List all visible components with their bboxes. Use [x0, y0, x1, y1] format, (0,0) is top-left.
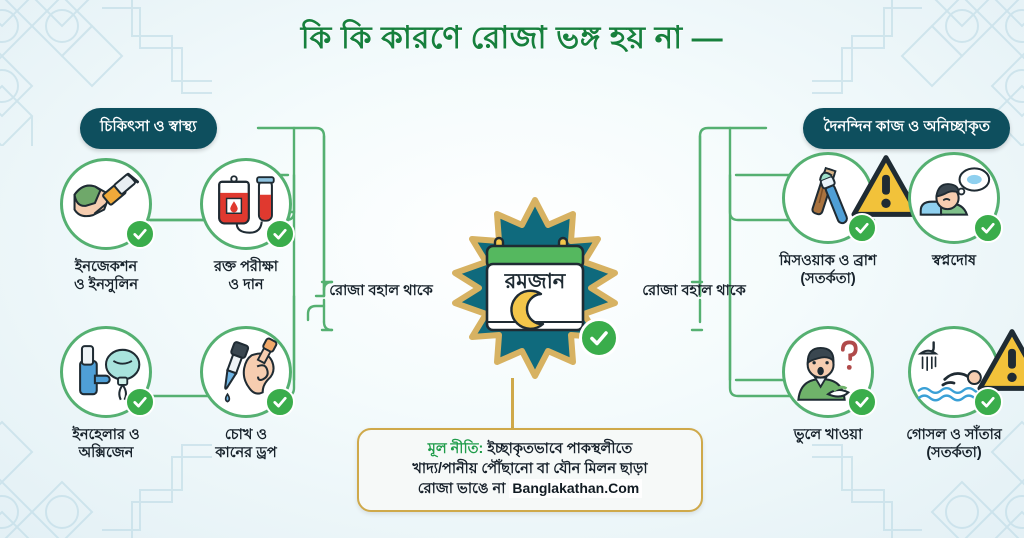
- infographic-canvas: কি কি কারণে রোজা ভঙ্গ হয় না —: [0, 0, 1024, 538]
- status-badge-check: [125, 219, 155, 249]
- caption-line-1: ভুলে খাওয়া: [758, 427, 898, 445]
- caption-line-1: ইনহেলার ও: [36, 427, 176, 445]
- icon-circle: [908, 152, 1000, 244]
- item-injection-insulin[interactable]: ইনজেকশন ও ইনসুলিন: [36, 158, 176, 294]
- note-text-1: ইচ্ছাকৃতভাবে পাকস্থলীতে: [483, 441, 632, 457]
- item-blood-test-donation[interactable]: রক্ত পরীক্ষা ও দান: [176, 158, 316, 294]
- principle-note-box: মূল নীতি: ইচ্ছাকৃতভাবে পাকস্থলীতে খাদ্য/…: [357, 428, 703, 512]
- item-caption: মিসওয়াক ও ব্রাশ (সতর্কতা): [758, 253, 898, 288]
- caption-line-2: ও দান: [176, 277, 316, 295]
- caption-line-2: (সতর্কতা): [884, 445, 1024, 463]
- note-line-1: মূল নীতি: ইচ্ছাকৃতভাবে পাকস্থলীতে: [373, 439, 687, 459]
- note-key-label: মূল নীতি:: [428, 441, 484, 457]
- item-bath-swimming[interactable]: গোসল ও সাঁতার (সতর্কতা): [884, 326, 1024, 462]
- page-title: কি কি কারণে রোজা ভঙ্গ হয় না —: [0, 14, 1024, 66]
- item-caption: স্বপ্নদোষ: [884, 253, 1024, 271]
- section-header-right: দৈনন্দিন কাজ ও অনিচ্ছাকৃত: [803, 108, 1010, 149]
- icon-circle: [60, 326, 152, 418]
- caption-line-1: মিসওয়াক ও ব্রাশ: [758, 253, 898, 271]
- item-inhaler-oxygen[interactable]: ইনহেলার ও অক্সিজেন: [36, 326, 176, 462]
- caption-line-2: ও ইনসুলিন: [36, 277, 176, 295]
- caption-line-2: (সতর্কতা): [758, 271, 898, 289]
- item-caption: ইনহেলার ও অক্সিজেন: [36, 427, 176, 462]
- status-badge-check: [125, 387, 155, 417]
- caption-line-1: ইনজেকশন: [36, 259, 176, 277]
- note-text-3: রোজা ভাঙে না: [418, 481, 510, 497]
- note-line-2: খাদ্য/পানীয় পৌঁছানো বা যৌন মিলন ছাড়া: [373, 459, 687, 479]
- site-watermark: Banglakathan.Com: [509, 479, 642, 498]
- caption-line-1: রক্ত পরীক্ষা: [176, 259, 316, 277]
- status-badge-check: [847, 387, 877, 417]
- icon-circle: [200, 158, 292, 250]
- item-caption: রক্ত পরীক্ষা ও দান: [176, 259, 316, 294]
- warning-triangle-icon: [975, 323, 1005, 350]
- warning-triangle-icon: [849, 149, 879, 176]
- item-caption: চোখ ও কানের ড্রপ: [176, 427, 316, 462]
- item-caption: ভুলে খাওয়া: [758, 427, 898, 445]
- caption-line-2: কানের ড্রপ: [176, 445, 316, 463]
- caption-line-1: চোখ ও: [176, 427, 316, 445]
- center-medallion: রমজান: [443, 196, 627, 380]
- status-badge-check: [973, 387, 1003, 417]
- medallion-note-connector: [511, 378, 514, 430]
- icon-circle: [200, 326, 292, 418]
- section-header-left: চিকিৎসা ও স্বাস্থ্য: [80, 108, 217, 149]
- icon-circle: [60, 158, 152, 250]
- item-caption: ইনজেকশন ও ইনসুলিন: [36, 259, 176, 294]
- status-badge-check: [973, 213, 1003, 243]
- center-status-badge-check: [579, 318, 619, 358]
- calendar-month-label: রমজান: [504, 270, 567, 293]
- status-badge-check: [265, 219, 295, 249]
- item-nocturnal-emission[interactable]: স্বপ্নদোষ: [884, 152, 1024, 271]
- connector-label-left: রোজা বহাল থাকে: [327, 282, 435, 300]
- caption-line-1: স্বপ্নদোষ: [884, 253, 1024, 271]
- icon-circle: [782, 326, 874, 418]
- ramadan-calendar-crescent-icon: রমজান: [483, 230, 591, 342]
- status-badge-check: [265, 387, 295, 417]
- note-line-3: রোজা ভাঙে না Banglakathan.Com: [373, 479, 687, 499]
- item-eye-ear-drops[interactable]: চোখ ও কানের ড্রপ: [176, 326, 316, 462]
- icon-circle: [908, 326, 1000, 418]
- item-caption: গোসল ও সাঁতার (সতর্কতা): [884, 427, 1024, 462]
- item-miswak-brush[interactable]: মিসওয়াক ও ব্রাশ (সতর্কতা): [758, 152, 898, 288]
- icon-circle: [782, 152, 874, 244]
- caption-line-1: গোসল ও সাঁতার: [884, 427, 1024, 445]
- status-badge-check: [847, 213, 877, 243]
- connector-label-right: রোজা বহাল থাকে: [640, 282, 748, 300]
- caption-line-2: অক্সিজেন: [36, 445, 176, 463]
- item-forgetful-eating[interactable]: ভুলে খাওয়া: [758, 326, 898, 445]
